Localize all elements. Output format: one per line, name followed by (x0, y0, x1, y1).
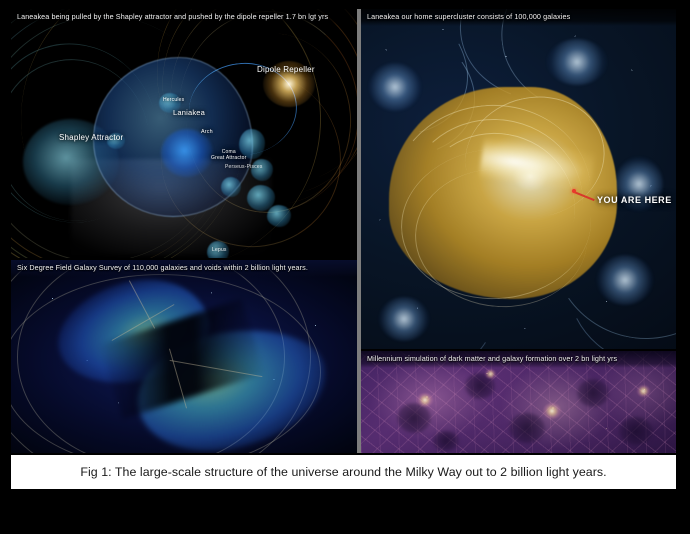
filament-knot (547, 39, 607, 85)
label-lepus: Lepus (212, 247, 227, 253)
you-are-here-marker (572, 189, 576, 193)
panel-millennium-simulation[interactable]: Millennium simulation of dark matter and… (361, 349, 676, 453)
panel-grid: Dipole Repeller Shapley Attractor Laniak… (11, 9, 676, 453)
panel-laniakea-flow-field[interactable]: Dipole Repeller Shapley Attractor Laniak… (11, 9, 357, 258)
panel-laniakea-home-supercluster[interactable]: YOU ARE HERE Laneakea our home superclus… (361, 9, 676, 349)
label-arch: Arch (201, 129, 213, 135)
right-column: YOU ARE HERE Laneakea our home superclus… (361, 9, 676, 453)
cluster-blob (251, 159, 273, 181)
filament-knot (597, 255, 653, 305)
label-perseus-pisces: Perseus-Pisces (225, 164, 263, 170)
left-column: Dipole Repeller Shapley Attractor Laniak… (11, 9, 357, 453)
caption-six-degree-field-survey: Six Degree Field Galaxy Survey of 110,00… (11, 260, 357, 277)
cosmic-void (577, 379, 609, 407)
label-shapley-attractor: Shapley Attractor (59, 133, 123, 142)
caption-millennium-simulation: Millennium simulation of dark matter and… (361, 351, 676, 368)
cosmic-void (619, 417, 653, 445)
cosmic-void (509, 413, 545, 443)
filament-hub (417, 393, 433, 407)
filament-knot (379, 297, 429, 341)
label-you-are-here: YOU ARE HERE (597, 195, 672, 205)
caption-laniakea-flow-field: Laneakea being pulled by the Shapley att… (11, 9, 357, 26)
label-coma-great-attractor: Coma Great Attractor (211, 149, 247, 162)
filament-knot (369, 63, 421, 111)
filament-hub (637, 385, 650, 397)
cluster-blob (267, 205, 291, 227)
filament-hub (543, 403, 561, 419)
panel-six-degree-field-survey[interactable]: Six Degree Field Galaxy Survey of 110,00… (11, 258, 357, 453)
cosmic-void (397, 403, 431, 433)
figure-caption-text: Fig 1: The large-scale structure of the … (80, 465, 606, 479)
cluster-blob (221, 177, 241, 197)
caption-laniakea-home-supercluster: Laneakea our home supercluster consists … (361, 9, 676, 26)
cosmic-void (433, 431, 459, 451)
figure-caption-bar: Fig 1: The large-scale structure of the … (11, 455, 676, 489)
label-dipole-repeller: Dipole Repeller (257, 65, 315, 74)
label-hercules: Hercules (163, 97, 184, 103)
figure-frame: Dipole Repeller Shapley Attractor Laniak… (0, 0, 690, 534)
filament-hub (485, 369, 496, 379)
label-laniakea: Laniakea (173, 108, 205, 117)
label-coma-line2: Great Attractor (211, 155, 247, 161)
